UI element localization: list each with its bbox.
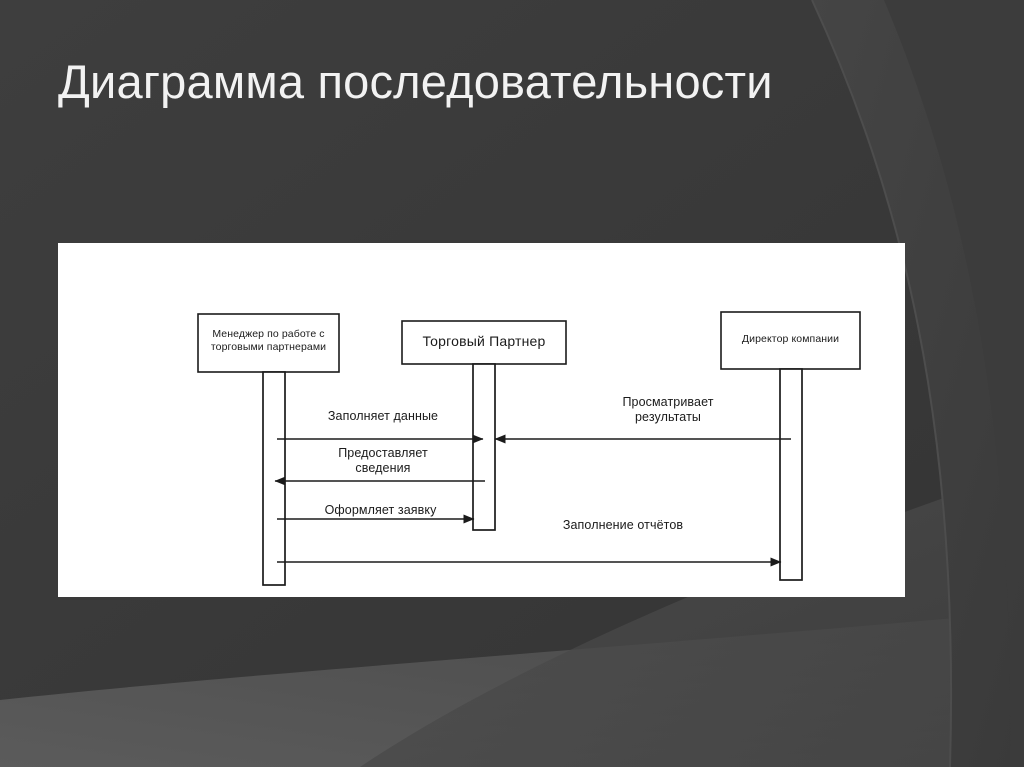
participant-label-director: Директор компании <box>721 333 860 346</box>
participant-label-manager-line2: торговыми партнерами <box>198 341 339 354</box>
message-label-m5-line1: Заполнение отчётов <box>498 518 748 533</box>
message-label-m2-line2: результаты <box>568 410 768 425</box>
message-label-m3-line2: сведения <box>278 461 488 476</box>
message-label-m3-line1: Предоставляет <box>278 446 488 461</box>
message-label-m4: Оформляет заявку <box>273 503 488 518</box>
participant-label-director-line1: Директор компании <box>721 333 860 346</box>
message-label-m4-line1: Оформляет заявку <box>273 503 488 518</box>
message-label-m2: Просматривает результаты <box>568 395 768 426</box>
message-label-m2-line1: Просматривает <box>568 395 768 410</box>
participant-label-manager: Менеджер по работе с торговыми партнерам… <box>198 328 339 354</box>
participant-label-manager-line1: Менеджер по работе с <box>198 328 339 341</box>
message-label-m5: Заполнение отчётов <box>498 518 748 533</box>
diagram-panel: Менеджер по работе с торговыми партнерам… <box>58 243 905 597</box>
participant-label-partner: Торговый Партнер <box>402 333 566 350</box>
message-label-m1: Заполняет данные <box>273 409 493 424</box>
lifeline-activation-director <box>780 369 802 580</box>
page-title: Диаграмма последовательности <box>58 56 938 109</box>
participant-label-partner-line1: Торговый Партнер <box>402 333 566 350</box>
lifeline-activation-manager <box>263 372 285 585</box>
slide: Диаграмма последовательности <box>0 0 1024 767</box>
message-label-m1-line1: Заполняет данные <box>273 409 493 424</box>
message-label-m3: Предоставляет сведения <box>278 446 488 477</box>
